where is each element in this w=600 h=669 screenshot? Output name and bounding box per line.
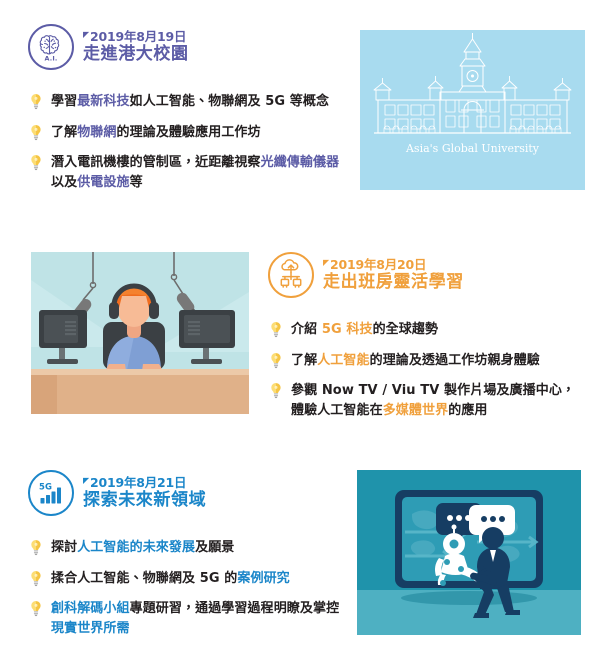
section-classroom-title: 走出班房靈活學習 [323,273,464,292]
hku-main-building-illustration: Asia's Global University [360,30,585,190]
cloud-network-icon [268,252,314,298]
list-item-text: 介紹 5G 科技的全球趨勢 [291,320,438,340]
list-item-text: 潛入電訊機樓的管制區，近距離視察光纖傳輸儀器以及供電設施等 [51,153,343,192]
svg-text:5G: 5G [39,483,52,493]
list-item: 學習最新科技如人工智能、物聯網及 5G 等概念 [28,92,348,112]
section-future: 5G ◤2019年8月21日 探索未來新領域 [28,470,348,638]
lightbulb-icon [28,570,44,587]
hku-caption: Asia's Global University [405,142,540,155]
svg-text:A.I.: A.I. [44,55,57,63]
list-item: 介紹 5G 科技的全球趨勢 [268,320,586,340]
list-item: 了解物聯網的理論及體驗應用工作坊 [28,123,348,143]
section-campus-date: ◤2019年8月19日 [83,30,189,44]
list-item: 創科解碼小組專題研習，通過學習過程明瞭及掌控現實世界所需 [28,599,348,638]
list-item-text: 了解人工智能的理論及透過工作坊親身體驗 [291,351,540,371]
lightbulb-icon [268,352,284,369]
list-item-text: 探討人工智能的未來發展及願景 [51,538,234,558]
section-future-date: ◤2019年8月21日 [83,476,206,490]
list-item: 潛入電訊機樓的管制區，近距離視察光纖傳輸儀器以及供電設施等 [28,153,348,192]
section-classroom-date: ◤2019年8月20日 [323,258,464,272]
list-item-text: 參觀 Now TV / Viu TV 製作片場及廣播中心，體驗人工智能在多媒體世… [291,381,581,420]
list-item-text: 創科解碼小組專題研習，通過學習過程明瞭及掌控現實世界所需 [51,599,343,638]
section-future-bullet-list: 探討人工智能的未來發展及願景 揉合人工智能、物聯網及 5G 的案例研究 [28,538,348,638]
section-campus-title: 走進港大校園 [83,45,189,64]
radio-studio-illustration [31,252,249,414]
five-g-signal-icon: 5G [28,470,74,516]
corner-tick-icon: ◤ [83,477,89,485]
list-item-text: 學習最新科技如人工智能、物聯網及 5G 等概念 [51,92,329,112]
section-future-header-text: ◤2019年8月21日 探索未來新領域 [83,476,206,510]
section-classroom-header: ◤2019年8月20日 走出班房靈活學習 [268,252,586,298]
lightbulb-icon [268,321,284,338]
lightbulb-icon [28,124,44,141]
list-item: 探討人工智能的未來發展及願景 [28,538,348,558]
section-campus: A.I. ◤2019年8月19日 走進港大校園 [28,24,348,192]
section-classroom-header-text: ◤2019年8月20日 走出班房靈活學習 [323,258,464,292]
lightbulb-icon [28,93,44,110]
lightbulb-icon [268,382,284,399]
lightbulb-icon [28,600,44,617]
corner-tick-icon: ◤ [83,31,89,39]
section-classroom-bullet-list: 介紹 5G 科技的全球趨勢 了解人工智能的理論及透過工作坊親身體驗 [268,320,586,420]
section-campus-bullet-list: 學習最新科技如人工智能、物聯網及 5G 等概念 了解物聯網的理論及體驗應用工作坊 [28,92,348,192]
robot-handshake-illustration [357,470,581,635]
lightbulb-icon [28,154,44,171]
corner-tick-icon: ◤ [323,259,329,267]
section-campus-header-text: ◤2019年8月19日 走進港大校園 [83,30,189,64]
section-campus-header: A.I. ◤2019年8月19日 走進港大校園 [28,24,348,70]
brain-ai-icon: A.I. [28,24,74,70]
list-item-text: 了解物聯網的理論及體驗應用工作坊 [51,123,261,143]
list-item: 揉合人工智能、物聯網及 5G 的案例研究 [28,569,348,589]
section-future-title: 探索未來新領域 [83,491,206,510]
list-item: 了解人工智能的理論及透過工作坊親身體驗 [268,351,586,371]
section-future-header: 5G ◤2019年8月21日 探索未來新領域 [28,470,348,516]
lightbulb-icon [28,539,44,556]
list-item: 參觀 Now TV / Viu TV 製作片場及廣播中心，體驗人工智能在多媒體世… [268,381,586,420]
section-classroom: ◤2019年8月20日 走出班房靈活學習 介紹 5G 科技的全球趨勢 [268,252,586,420]
list-item-text: 揉合人工智能、物聯網及 5G 的案例研究 [51,569,290,589]
